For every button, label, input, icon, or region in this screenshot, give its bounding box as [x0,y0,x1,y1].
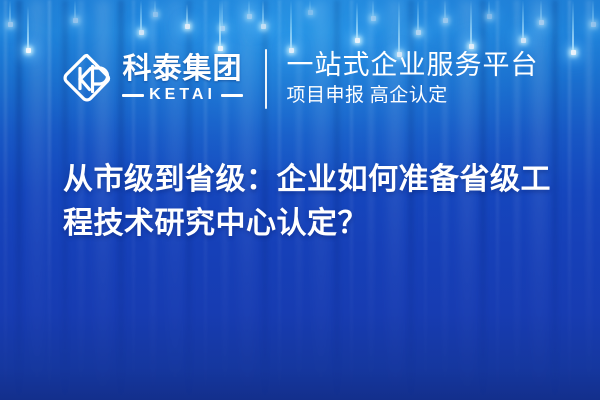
brand-name-en: KETAI [149,87,216,103]
light-comet-tail [522,0,524,38]
light-comet-tail [592,0,594,22]
light-comet [522,0,524,43]
light-comet [248,0,250,19]
light-comet-head [308,10,313,15]
light-comet-tail [248,0,250,14]
light-comet-tail [417,0,419,30]
light-comet-tail [74,0,76,18]
headline-title: 从市级到省级：企业如何准备省级工程技术研究中心认定？ [63,158,552,247]
light-comet-head [371,16,376,21]
light-comet-head [153,12,158,17]
light-comet-head [185,24,190,29]
light-comet [356,2,358,43]
light-comet-tail [9,0,11,22]
tagline-main: 一站式企业服务平台 [287,51,539,80]
brand-logo[interactable]: 科泰集团 KETAI [61,52,242,106]
light-comet [309,0,311,15]
light-comet-tail [356,2,358,38]
tagline-block: 一站式企业服务平台 项目申报 高企认定 [287,51,539,106]
light-comet-head [521,38,526,43]
brand-wordmark: 科泰集团 KETAI [122,55,242,104]
light-comet-tail [221,0,223,26]
brand-name-en-row: KETAI [122,87,242,103]
light-comet-head [539,20,544,25]
light-comet-tail [470,0,472,44]
light-comet [221,0,223,31]
light-comet [488,0,490,19]
light-comet-tail [540,0,542,20]
wordmark-rule-right [221,94,243,97]
light-comet-tail [372,0,374,16]
light-comet-tail [572,0,574,50]
tagline-sub: 项目申报 高企认定 [287,86,539,107]
light-comet-tail [219,0,221,46]
light-comet-tail [140,0,142,30]
light-comet [140,0,142,35]
light-comet-head [416,30,421,35]
banner-header: 科泰集团 KETAI 一站式企业服务平台 项目申报 高企认定 [0,44,600,114]
header-divider [265,49,267,109]
light-comet-tail [444,0,446,18]
light-comet-head [355,38,360,43]
light-comet [592,0,594,27]
light-comet-head [73,18,78,23]
light-comet-head [591,22,596,27]
light-comet-head [443,18,448,23]
light-comet [262,0,264,29]
light-comet-tail [290,0,292,48]
light-comet [417,0,419,35]
brand-name-cn: 科泰集团 [122,55,242,85]
light-comet-tail [309,0,311,10]
light-comet [74,0,76,23]
light-comet-head [139,30,144,35]
ketai-diamond-kp-monogram-icon [61,52,113,106]
light-comet-tail [154,0,156,12]
light-comet-tail [488,0,490,14]
light-comet-head [261,24,266,29]
light-comet [372,0,374,21]
light-comet [154,0,156,17]
light-comet [9,0,11,27]
light-comet-tail [27,6,29,48]
light-comet-tail [262,0,264,24]
light-comet-head [8,22,13,27]
light-comet [470,0,472,49]
light-comet [540,0,542,25]
light-comet-tail [186,4,188,24]
promo-banner: 科泰集团 KETAI 一站式企业服务平台 项目申报 高企认定 从市级到省级：企业… [0,0,600,400]
light-comet-head [247,14,252,19]
light-comet-head [220,26,225,31]
wordmark-rule-left [122,94,144,97]
light-comet [444,0,446,23]
light-comet-head [487,14,492,19]
light-comet [186,4,188,29]
